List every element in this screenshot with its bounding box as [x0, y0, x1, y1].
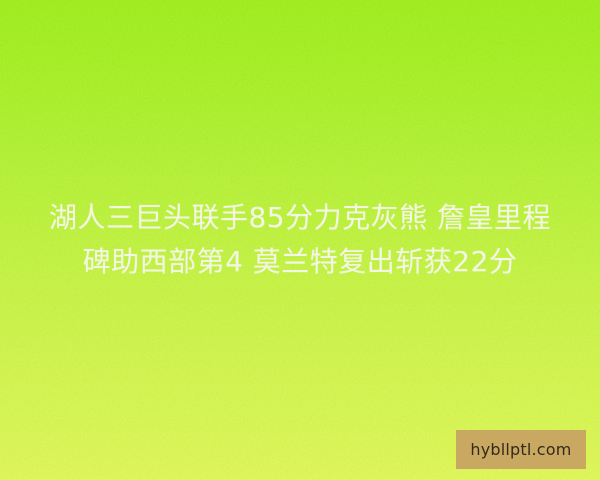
image-canvas: 湖人三巨头联手85分力克灰熊 詹皇里程 碑助西部第4 莫兰特复出斩获22分 hy…	[0, 0, 600, 480]
headline-line-2: 碑助西部第4 莫兰特复出斩获22分	[18, 240, 582, 284]
watermark-url-label: hybllptl.com	[470, 442, 571, 458]
watermark-badge: hybllptl.com	[456, 430, 586, 469]
headline-text-block: 湖人三巨头联手85分力克灰熊 詹皇里程 碑助西部第4 莫兰特复出斩获22分	[0, 196, 600, 284]
headline-line-1: 湖人三巨头联手85分力克灰熊 詹皇里程	[18, 196, 582, 240]
